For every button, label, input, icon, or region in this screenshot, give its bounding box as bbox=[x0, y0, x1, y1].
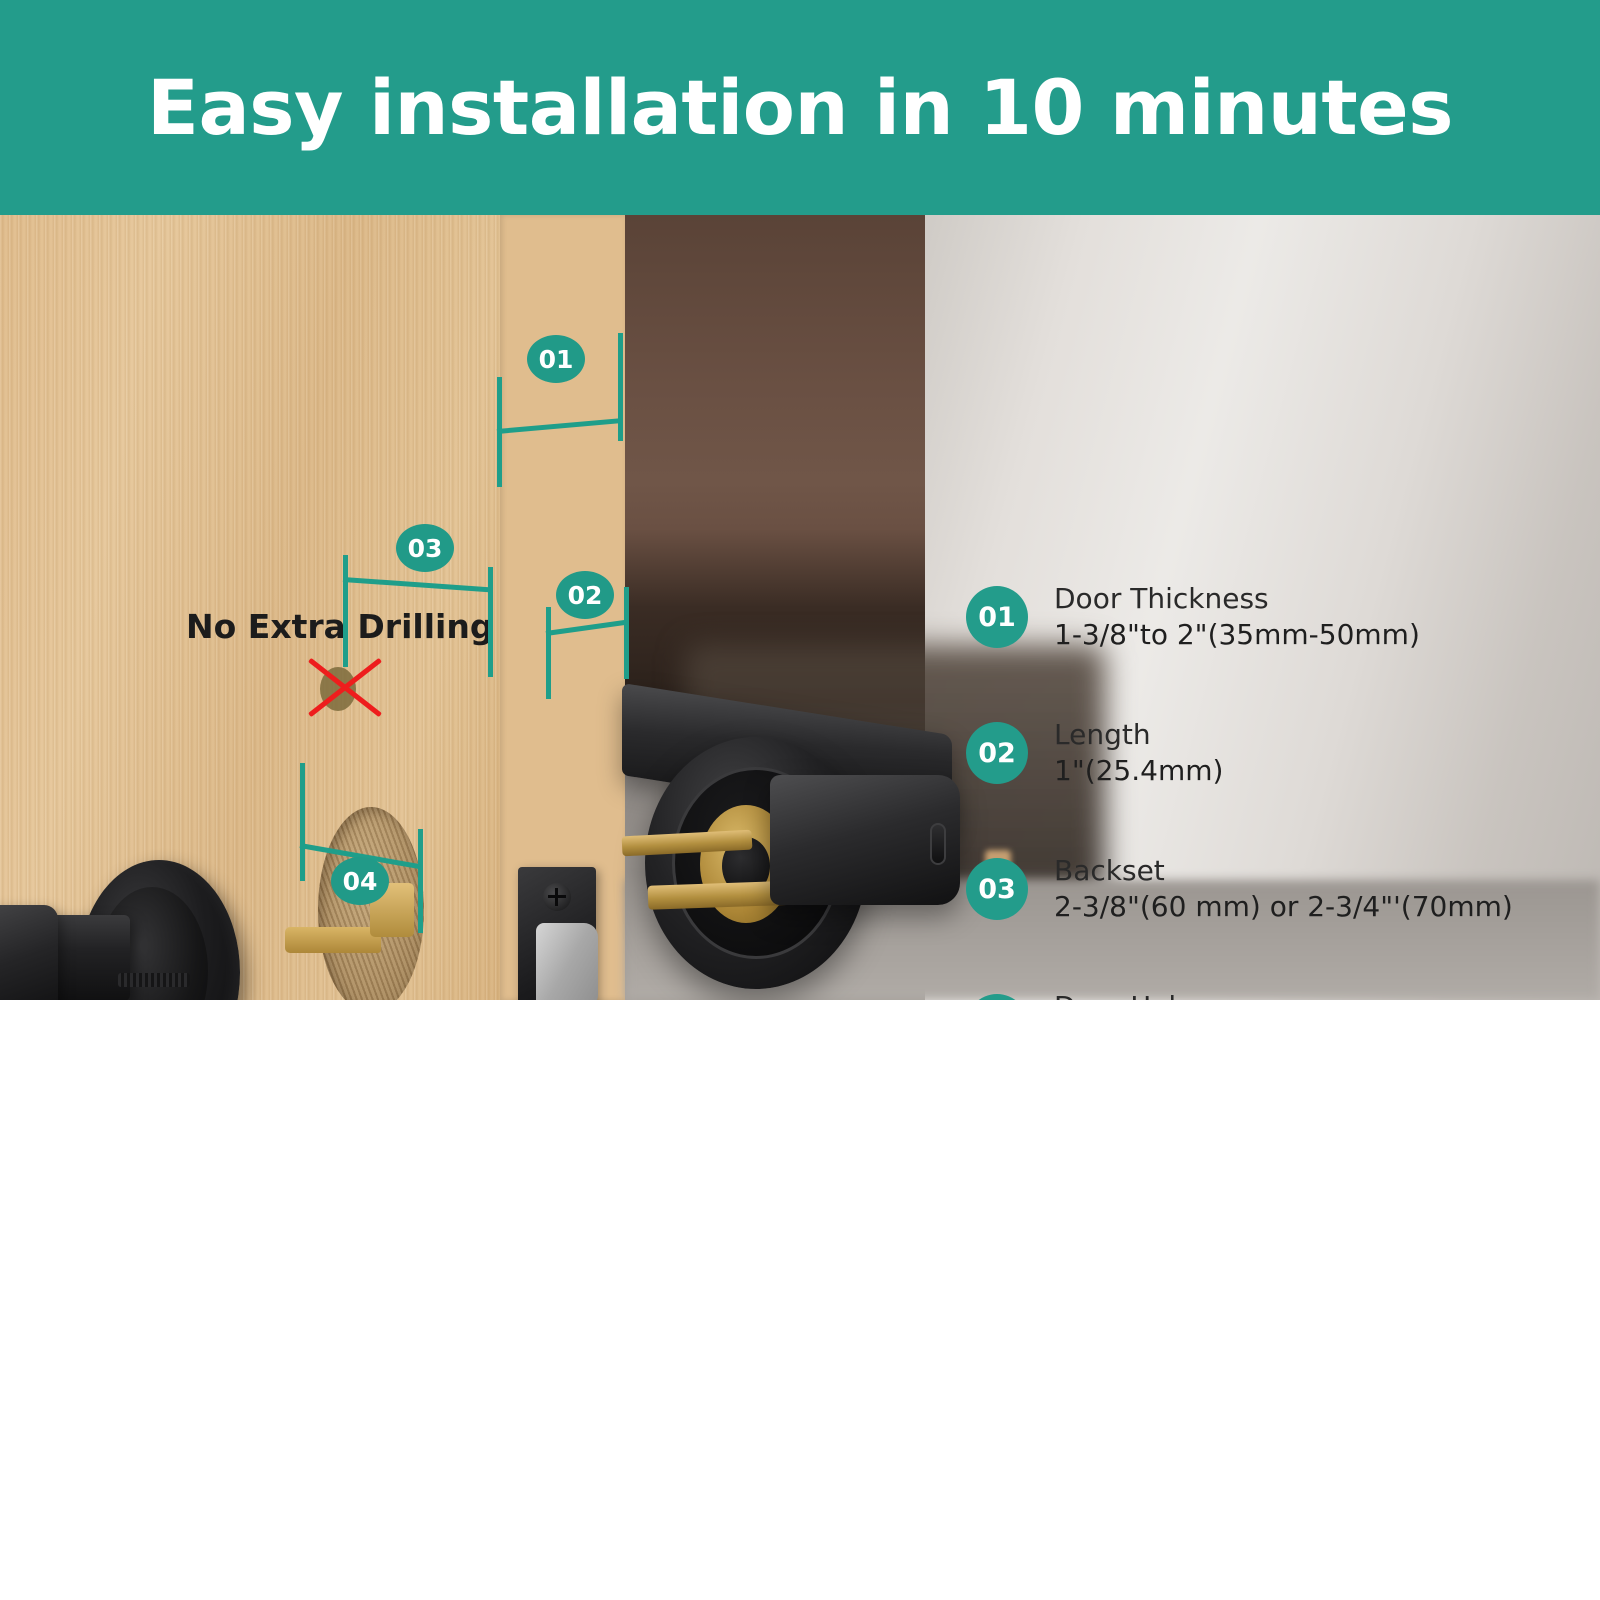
dim-03-tick-left bbox=[343, 555, 348, 667]
callout-badge-03: 03 bbox=[396, 524, 454, 572]
brass-latch-tongue bbox=[285, 927, 381, 953]
reversible-handle-section: Reversible Handle ·Left-handed Doors ·Ri… bbox=[0, 1000, 1600, 1600]
spec-text-04: Door Hole 2-1/8"(54mm) bbox=[1054, 989, 1252, 1000]
spec-badge-03: 03 bbox=[966, 858, 1028, 920]
spec-title-04: Door Hole bbox=[1054, 989, 1252, 1000]
dim-01-tick-right bbox=[618, 333, 623, 441]
callout-badge-04: 04 bbox=[331, 857, 389, 905]
spec-title-01: Door Thickness bbox=[1054, 581, 1420, 617]
infographic-page: Easy installation in 10 minutes bbox=[0, 0, 1600, 1600]
header-banner: Easy installation in 10 minutes bbox=[0, 0, 1600, 215]
spec-row-02: 02 Length 1"(25.4mm) bbox=[966, 711, 1586, 795]
spec-text-02: Length 1"(25.4mm) bbox=[1054, 717, 1223, 789]
dim-04-tick-left bbox=[300, 763, 305, 881]
spec-title-02: Length bbox=[1054, 717, 1223, 753]
dim-04-tick-right bbox=[418, 829, 423, 933]
callout-badge-02: 02 bbox=[556, 571, 614, 619]
faceplate-screw-top-icon bbox=[543, 883, 571, 911]
spec-badge-01: 01 bbox=[966, 586, 1028, 648]
dim-02-tick-right bbox=[624, 587, 629, 679]
spec-list: 01 Door Thickness 1-3/8"to 2"(35mm-50mm)… bbox=[966, 575, 1586, 1000]
latch-bolt bbox=[536, 923, 598, 1000]
spec-text-01: Door Thickness 1-3/8"to 2"(35mm-50mm) bbox=[1054, 581, 1420, 653]
interior-lever-grip bbox=[0, 905, 58, 1000]
spec-value-01: 1-3/8"to 2"(35mm-50mm) bbox=[1054, 617, 1420, 653]
callout-badge-01: 01 bbox=[527, 335, 585, 383]
spec-row-03: 03 Backset 2-3/8"(60 mm) or 2-3/4"'(70mm… bbox=[966, 847, 1586, 931]
dim-02-tick-left bbox=[546, 607, 551, 699]
spec-title-03: Backset bbox=[1054, 853, 1513, 889]
spec-value-03: 2-3/8"(60 mm) or 2-3/4"'(70mm) bbox=[1054, 889, 1513, 925]
spec-text-03: Backset 2-3/8"(60 mm) or 2-3/4"'(70mm) bbox=[1054, 853, 1513, 925]
installation-photo: No Extra Drilling 01 03 02 04 01 Door T bbox=[0, 215, 1600, 1000]
usb-c-port-icon bbox=[930, 823, 946, 865]
no-extra-drilling-label: No Extra Drilling bbox=[186, 607, 493, 646]
mounting-screw bbox=[118, 973, 190, 987]
banner-title: Easy installation in 10 minutes bbox=[147, 63, 1453, 152]
spec-row-01: 01 Door Thickness 1-3/8"to 2"(35mm-50mm) bbox=[966, 575, 1586, 659]
dim-03-tick-right bbox=[488, 567, 493, 677]
spec-row-04: 04 Door Hole 2-1/8"(54mm) bbox=[966, 983, 1586, 1000]
spec-value-02: 1"(25.4mm) bbox=[1054, 753, 1223, 789]
spec-badge-02: 02 bbox=[966, 722, 1028, 784]
